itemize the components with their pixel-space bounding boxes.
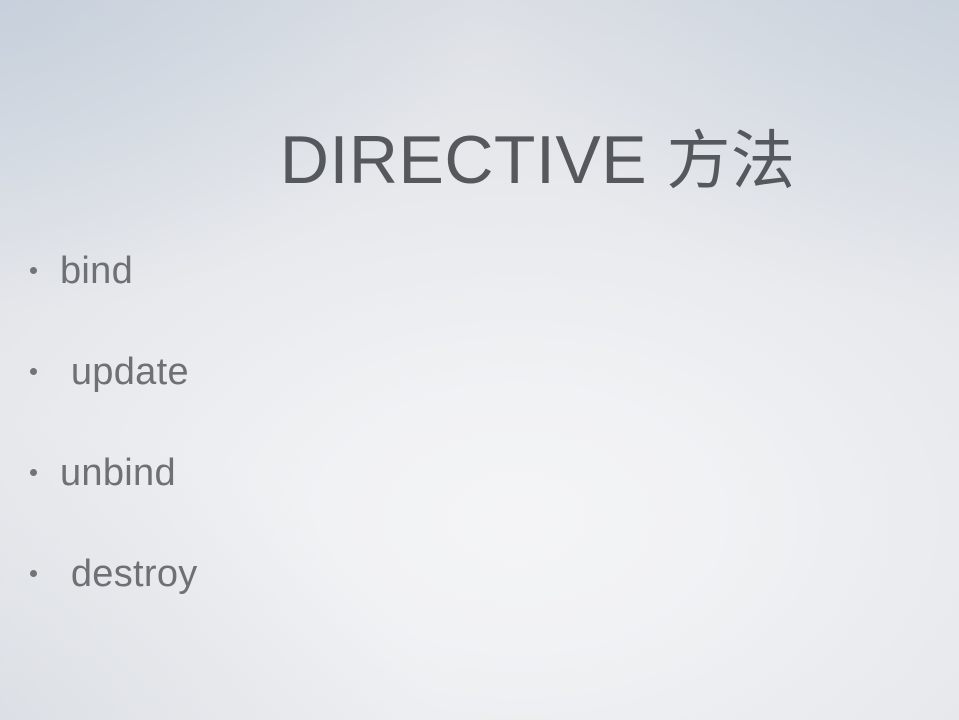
list-item: destroy [30,555,550,656]
bullet-item-label-unbind: unbind [60,454,176,492]
bullet-dot-icon [30,570,37,577]
list-item: bind [30,252,550,353]
slide-title: DIRECTIVE 方法 [0,58,959,262]
bullet-item-label-update: update [60,353,189,391]
list-item: unbind [30,454,550,555]
bullet-item-label-bind: bind [60,252,133,290]
slide-content: DIRECTIVE 方法 bind update unbind destroy [0,0,959,720]
bullet-dot-icon [30,469,37,476]
presentation-slide: DIRECTIVE 方法 bind update unbind destroy [0,0,959,720]
slide-title-separator [647,122,666,198]
slide-title-cjk: 方法 [666,125,795,199]
bullet-item-label-destroy: destroy [60,555,198,593]
bullet-dot-icon [30,267,37,274]
bullet-list: bind update unbind destroy [30,252,550,656]
list-item: update [30,353,550,454]
slide-title-latin: DIRECTIVE [280,122,647,198]
bullet-dot-icon [30,368,37,375]
